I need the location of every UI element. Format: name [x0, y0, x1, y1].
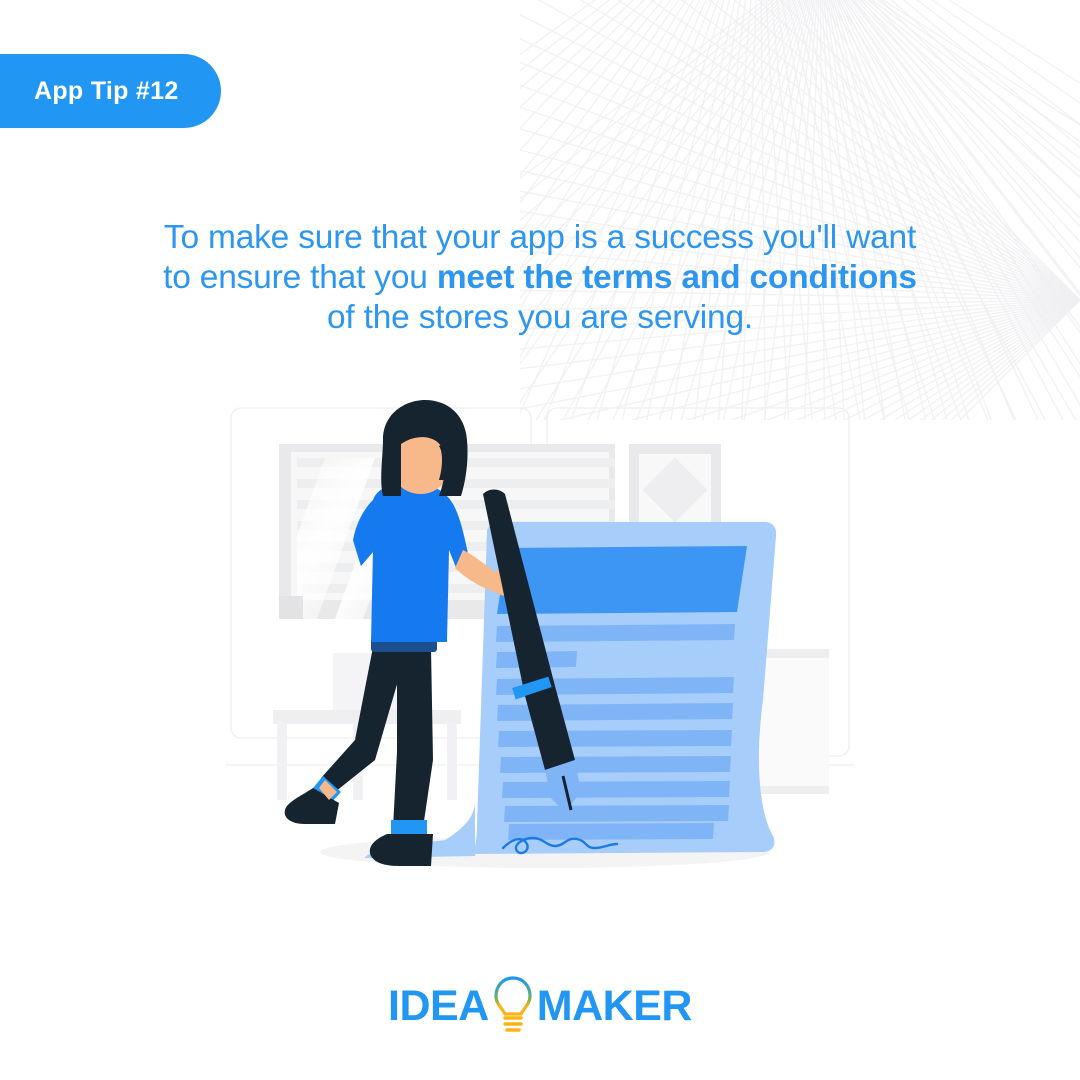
woman-signing-contract-illustration — [225, 400, 855, 890]
woman-front-shoe — [370, 834, 433, 866]
headline-text: To make sure that your app is a success … — [150, 218, 930, 338]
brand-logo: IDEA MAKER — [0, 972, 1080, 1040]
app-tip-badge: App Tip #12 — [0, 54, 221, 128]
logo-word-idea: IDEA — [388, 985, 489, 1028]
lightbulb-icon — [491, 975, 535, 1037]
woman-front-cuff — [391, 820, 427, 834]
document-header-block — [497, 546, 747, 614]
logo-word-maker: MAKER — [537, 985, 692, 1028]
headline-part-2: of the stores you are serving. — [327, 299, 753, 336]
headline-bold-phrase: meet the terms and conditions — [437, 259, 917, 296]
woman-front-leg — [393, 648, 433, 828]
fan-lines-pattern — [520, 0, 1080, 420]
app-tip-badge-label: App Tip #12 — [34, 77, 179, 106]
